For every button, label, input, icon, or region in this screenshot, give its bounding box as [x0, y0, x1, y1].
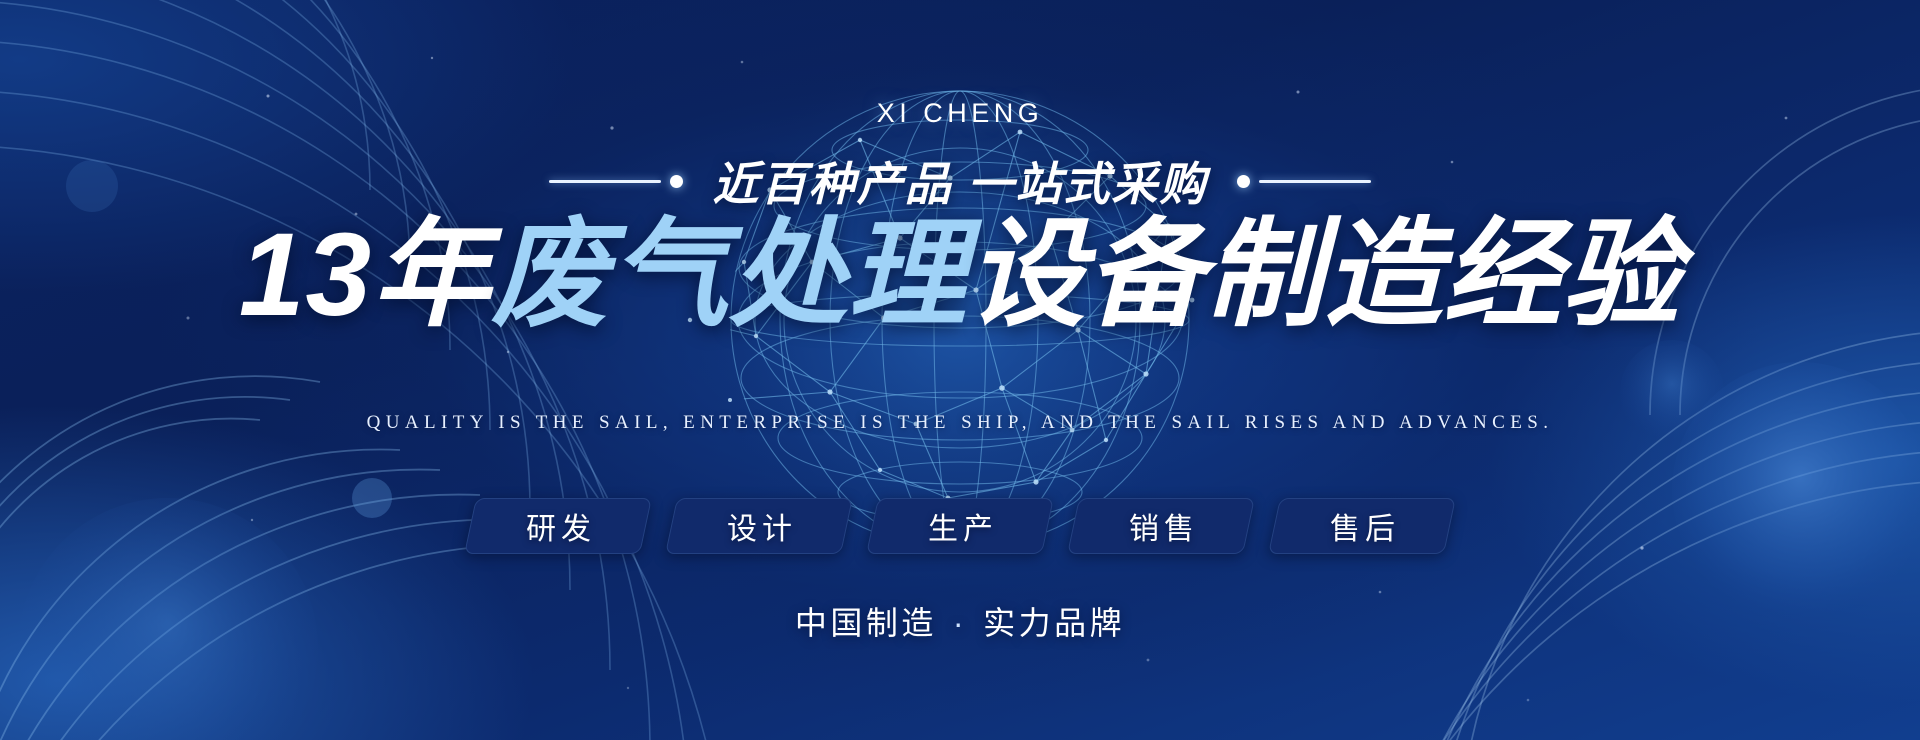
service-tag-design[interactable]: 设计: [671, 498, 847, 554]
decorative-line-right: [1237, 175, 1371, 188]
headline-highlight: 废气处理: [491, 209, 967, 341]
subtitle-text: 近百种产品 一站式采购: [713, 148, 1208, 214]
service-tag-label: 售后: [1330, 504, 1400, 548]
service-tag-label: 设计: [727, 504, 797, 548]
headline-part-3: 设备制造经验: [967, 209, 1681, 341]
service-tag-label: 研发: [526, 504, 596, 548]
headline-part-1: 13年: [239, 209, 491, 341]
service-tag-sales[interactable]: 销售: [1073, 498, 1249, 554]
service-tag-rd[interactable]: 研发: [470, 498, 646, 554]
brand-latin-name: XI CHENG: [0, 98, 1920, 129]
footer-slogan: 中国制造·实力品牌: [0, 598, 1920, 644]
service-tag-label: 生产: [928, 504, 998, 548]
footer-separator: ·: [937, 605, 983, 641]
subtitle-row: 近百种产品 一站式采购: [0, 148, 1920, 214]
hero-banner: XI CHENG 近百种产品 一站式采购 13年废气处理设备制造经验 QUALI…: [0, 0, 1920, 740]
service-tag-list: 研发 设计 生产 销售 售后: [0, 498, 1920, 554]
footer-slogan-right: 实力品牌: [983, 605, 1125, 641]
headline: 13年废气处理设备制造经验: [0, 212, 1920, 339]
service-tag-label: 销售: [1129, 504, 1199, 548]
english-tagline: QUALITY IS THE SAIL, ENTERPRISE IS THE S…: [0, 412, 1920, 434]
decorative-line-left: [549, 175, 683, 188]
service-tag-production[interactable]: 生产: [872, 498, 1048, 554]
service-tag-aftersales[interactable]: 售后: [1274, 498, 1450, 554]
footer-slogan-left: 中国制造: [795, 605, 937, 641]
